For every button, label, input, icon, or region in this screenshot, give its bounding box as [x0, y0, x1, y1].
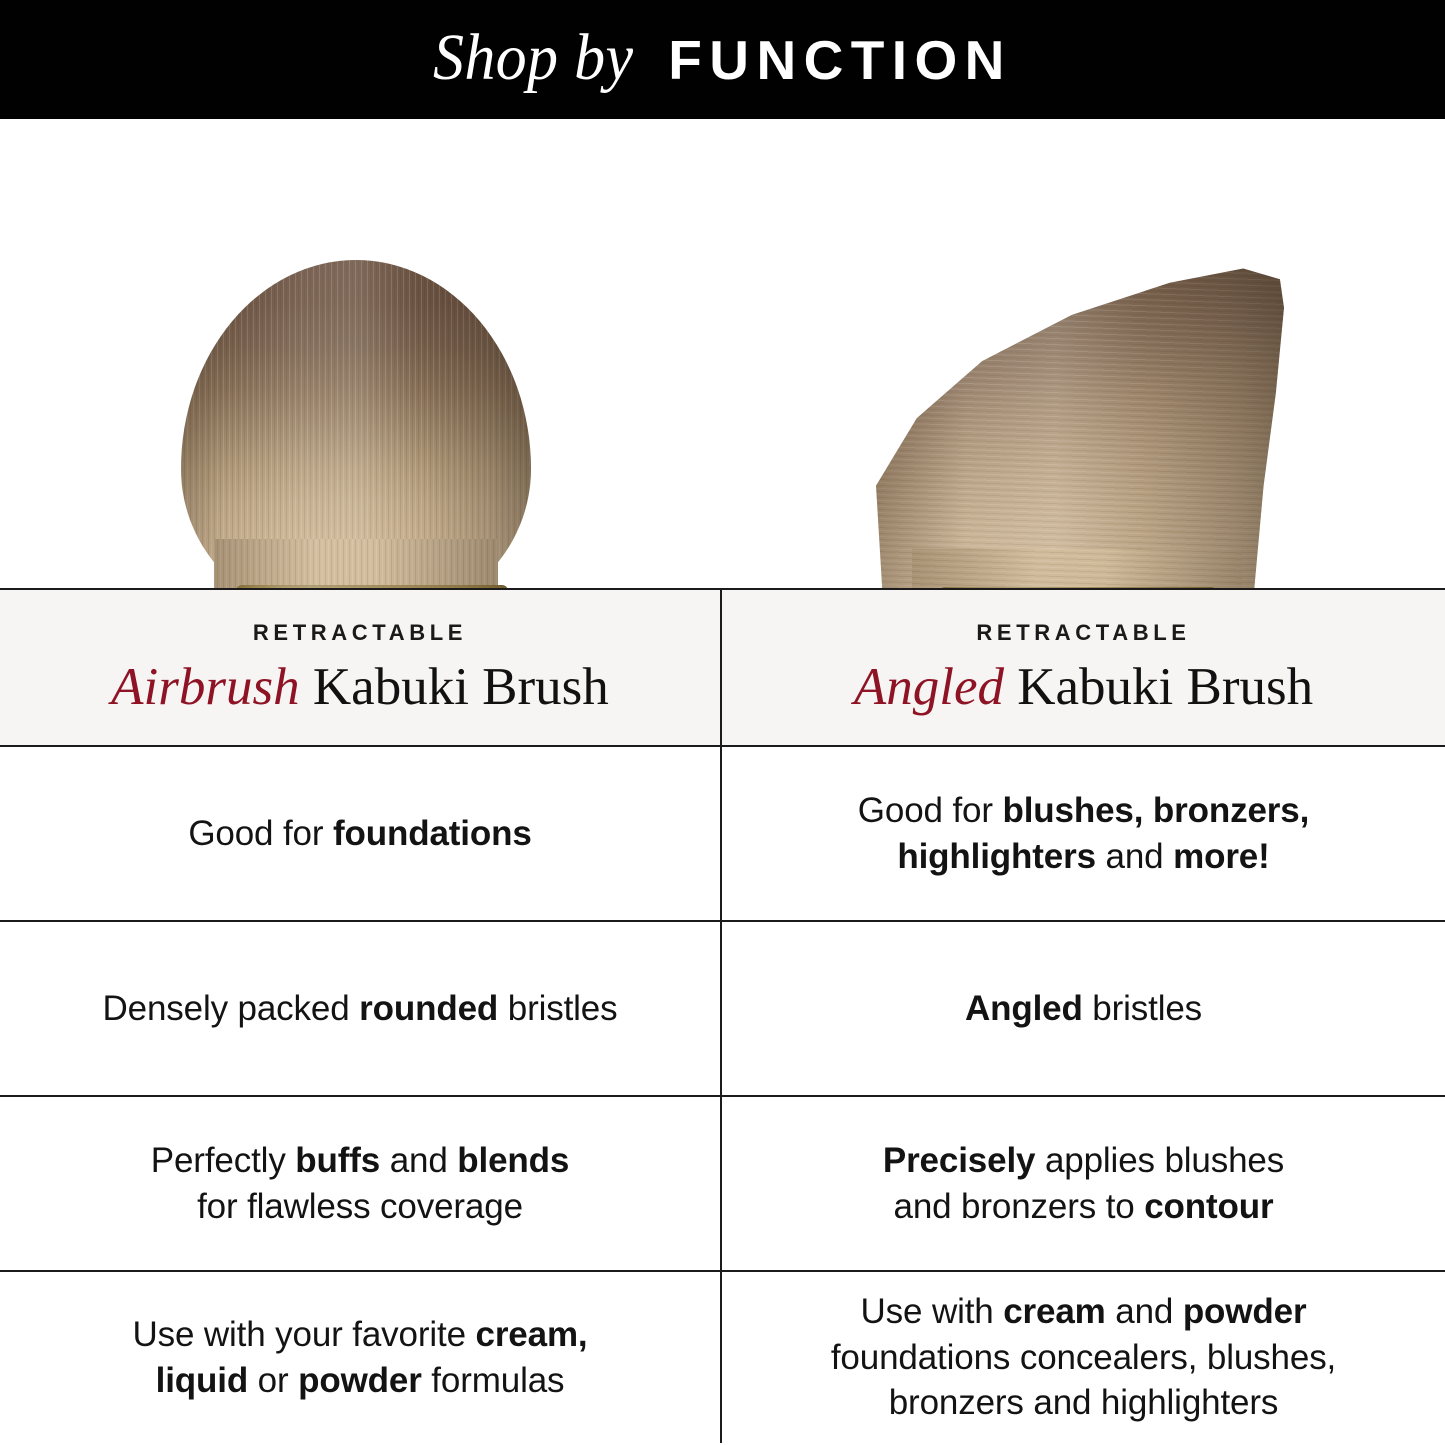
feature-cell-left: Use with your favorite cream,liquid or p…: [0, 1272, 722, 1443]
feature-text: Good for blushes, bronzers,highlighters …: [858, 788, 1309, 879]
feature-text: Angled bristles: [965, 986, 1202, 1032]
product-image-angled: [723, 119, 1445, 588]
feature-cell-right: Precisely applies blushesand bronzers to…: [722, 1097, 1445, 1270]
angled-bristle-head: [876, 265, 1284, 588]
product-name-rest: Kabuki Brush: [300, 658, 609, 716]
header-title-group: Shop by FUNCTION: [433, 20, 1012, 96]
feature-text: Use with your favorite cream,liquid or p…: [132, 1312, 587, 1403]
product-title-cell-angled[interactable]: RETRACTABLE Angled Kabuki Brush: [722, 590, 1445, 745]
feature-text: Densely packed rounded bristles: [102, 986, 617, 1032]
product-comparison-table: RETRACTABLE Airbrush Kabuki Brush RETRAC…: [0, 588, 1445, 1445]
shop-by-function-infographic: Shop by FUNCTION: [0, 0, 1445, 1445]
feature-row: Use with your favorite cream,liquid or p…: [0, 1270, 1445, 1443]
product-eyebrow-label: RETRACTABLE: [253, 620, 467, 646]
feature-row: Good for foundations Good for blushes, b…: [0, 745, 1445, 920]
product-name-angled: Angled Kabuki Brush: [854, 660, 1313, 716]
product-name-accent: Airbrush: [111, 658, 299, 716]
product-name-rest: Kabuki Brush: [1004, 658, 1313, 716]
feature-cell-right: Angled bristles: [722, 922, 1445, 1095]
ferrule-shading: [939, 587, 1217, 588]
feature-cell-right: Use with cream and powderfoundations con…: [722, 1272, 1445, 1443]
product-title-row: RETRACTABLE Airbrush Kabuki Brush RETRAC…: [0, 588, 1445, 745]
feature-text: Use with cream and powderfoundations con…: [831, 1289, 1336, 1426]
feature-text: Perfectly buffs and blendsfor flawless c…: [151, 1138, 569, 1229]
angled-bristle-base: [912, 549, 1242, 588]
airbrush-gold-ferrule: [236, 585, 508, 588]
feature-row: Densely packed rounded bristles Angled b…: [0, 920, 1445, 1095]
feature-text: Precisely applies blushesand bronzers to…: [883, 1138, 1284, 1229]
product-eyebrow-label: RETRACTABLE: [976, 620, 1190, 646]
product-image-airbrush: [0, 119, 722, 588]
bristle-texture: [876, 265, 1284, 588]
product-name-airbrush: Airbrush Kabuki Brush: [111, 660, 609, 716]
bristle-texture: [912, 549, 1242, 588]
page-header-banner: Shop by FUNCTION: [0, 0, 1445, 119]
header-script-text: Shop by: [433, 20, 633, 96]
feature-text: Good for foundations: [188, 811, 531, 857]
feature-cell-left: Good for foundations: [0, 747, 722, 920]
airbrush-bristle-base: [214, 539, 498, 588]
feature-cell-left: Densely packed rounded bristles: [0, 922, 722, 1095]
feature-row: Perfectly buffs and blendsfor flawless c…: [0, 1095, 1445, 1270]
ferrule-shading: [236, 585, 508, 588]
bristle-texture: [214, 539, 498, 588]
header-bold-text: FUNCTION: [668, 28, 1012, 92]
feature-cell-right: Good for blushes, bronzers,highlighters …: [722, 747, 1445, 920]
angled-gold-ferrule: [939, 587, 1217, 588]
product-image-band: [0, 119, 1445, 588]
product-name-accent: Angled: [854, 658, 1004, 716]
product-title-cell-airbrush[interactable]: RETRACTABLE Airbrush Kabuki Brush: [0, 590, 722, 745]
feature-cell-left: Perfectly buffs and blendsfor flawless c…: [0, 1097, 722, 1270]
